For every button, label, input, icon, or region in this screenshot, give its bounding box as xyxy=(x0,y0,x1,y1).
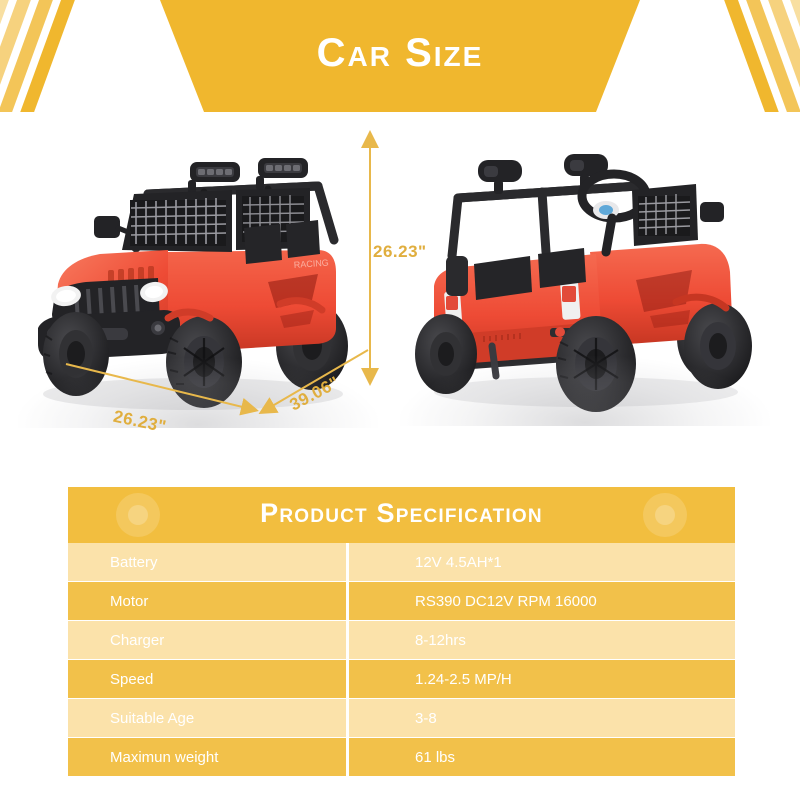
wheel-rear-left xyxy=(415,314,477,394)
car-rear-illustration xyxy=(400,140,770,430)
spec-key: Motor xyxy=(68,582,346,620)
table-row: Battery 12V 4.5AH*1 xyxy=(68,543,735,581)
car-rear-view xyxy=(400,140,770,430)
spec-key: Speed xyxy=(68,660,346,698)
ring-decoration-right-icon xyxy=(643,493,687,537)
table-row: Maximun weight 61 lbs xyxy=(68,738,735,776)
wheel-front-right-far xyxy=(684,303,752,389)
ring-decoration-left-icon xyxy=(116,493,160,537)
header-banner: Car Size xyxy=(0,0,800,112)
spec-key: Charger xyxy=(68,621,346,659)
spec-table-title: Product Specification xyxy=(260,500,543,530)
side-mirror xyxy=(94,216,128,238)
spec-value: RS390 DC12V RPM 16000 xyxy=(349,582,735,620)
car-front-illustration: RACING xyxy=(18,132,378,432)
spec-value: 12V 4.5AH*1 xyxy=(349,543,735,581)
mesh-guard-side xyxy=(632,184,698,246)
product-photo-area: RACING xyxy=(0,112,800,482)
wheel-front-right xyxy=(166,316,242,408)
spec-value: 61 lbs xyxy=(349,738,735,776)
table-row: Suitable Age 3-8 xyxy=(68,699,735,737)
spec-value: 8-12hrs xyxy=(349,621,735,659)
spec-value: 3-8 xyxy=(349,699,735,737)
table-row: Speed 1.24-2.5 MP/H xyxy=(68,660,735,698)
spec-value: 1.24-2.5 MP/H xyxy=(349,660,735,698)
windshield-mesh-guard xyxy=(122,188,310,252)
table-row: Charger 8-12hrs xyxy=(68,621,735,659)
spec-key: Battery xyxy=(68,543,346,581)
car-front-view: RACING xyxy=(18,132,378,432)
spec-key: Suitable Age xyxy=(68,699,346,737)
product-specification-table: Product Specification Battery 12V 4.5AH*… xyxy=(68,487,735,777)
table-row: Motor RS390 DC12V RPM 16000 xyxy=(68,582,735,620)
spec-table-header: Product Specification xyxy=(68,487,735,543)
spec-key: Maximun weight xyxy=(68,738,346,776)
wheel-front-left xyxy=(556,316,636,412)
page-title: Car Size xyxy=(0,0,800,112)
wheel-front-left xyxy=(43,312,109,396)
